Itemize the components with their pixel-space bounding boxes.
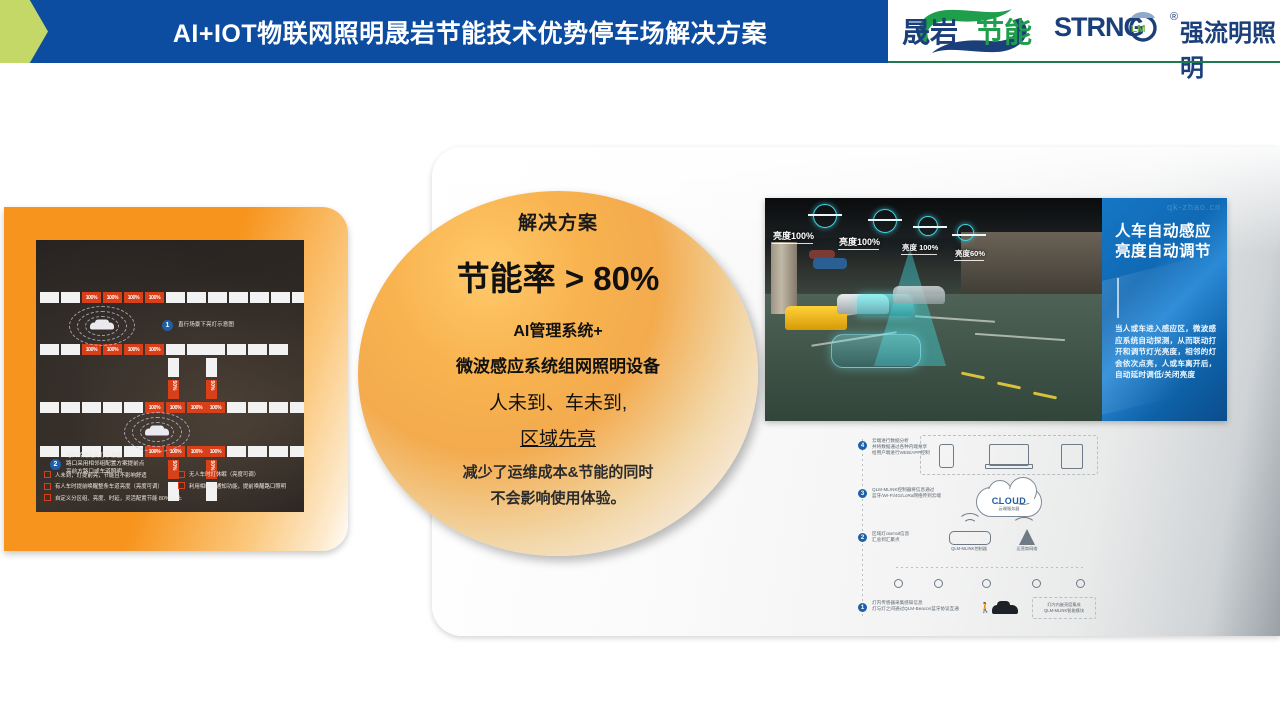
lamp-row-4b: 100% xyxy=(206,446,304,457)
lamp-on: 100% xyxy=(124,292,143,303)
slide-root: AI+IOT物联网照明晟岩节能技术优势停车场解决方案 晟岩 节能 STRNG L… xyxy=(0,0,1280,720)
lamp-value: 50% xyxy=(168,380,179,391)
legend-label: 无人车时灯休眠（亮度可调） xyxy=(189,470,259,478)
lamp-off xyxy=(206,344,225,355)
network-architecture-diagram: CLOUD 云端服务器 QLM-MLINK控制器 运营商网络 🚶 灯内内嵌亮度集… xyxy=(826,425,1108,633)
legend-label: 利用相临组通知功能，提前唤醒路口照明 xyxy=(189,482,286,490)
client-devices-group xyxy=(920,435,1098,475)
brightness-label-3: 亮度 100% xyxy=(902,242,938,253)
step-badge-3: 3 xyxy=(858,489,867,498)
ellipse-line-3: 人未到、车未到, xyxy=(489,388,627,415)
legend-item: 无人车时灯休眠（亮度可调） xyxy=(178,470,286,478)
step-3-line2: 蓝牙/WI-FI/4G/LoRa网络传到云端 xyxy=(872,493,941,499)
step-4-line3: 给用户端进行WEB/APP控制 xyxy=(872,450,930,456)
lamp-off xyxy=(292,292,304,303)
lamp-off xyxy=(40,446,59,457)
lamp-off xyxy=(248,402,267,413)
blue-panel-title: 人车自动感应 亮度自动调节 xyxy=(1115,222,1211,262)
lamp-off xyxy=(290,402,304,413)
legend-item: 利用相临组通知功能，提前唤醒路口照明 xyxy=(178,482,286,490)
laptop-base-icon xyxy=(985,464,1033,469)
lamp-off xyxy=(227,402,246,413)
brightness-label-4: 亮度60% xyxy=(955,248,985,259)
lamp-row-1: 100% 100% 100% 100% xyxy=(40,292,304,303)
blue-panel-title-line2: 亮度自动调节 xyxy=(1115,242,1211,262)
car-icon-small xyxy=(992,605,1018,614)
watermark: qk-zhao.cn xyxy=(1167,202,1221,212)
annotation-badge-1: 1 xyxy=(162,320,173,331)
garage-back-wall xyxy=(961,232,1102,298)
lamp-on: 100% xyxy=(145,292,164,303)
lamp-bus-line xyxy=(896,567,1086,568)
lamp-off xyxy=(227,446,246,457)
lamp-node xyxy=(890,577,904,590)
lamp-off xyxy=(166,292,185,303)
phone-icon xyxy=(939,444,954,468)
lamp-on: 100% xyxy=(103,292,122,303)
lamp-off xyxy=(227,344,246,355)
slide-header: AI+IOT物联网照明晟岩节能技术优势停车场解决方案 晟岩 节能 STRNG L… xyxy=(0,0,1280,63)
lamp-node xyxy=(1072,577,1086,590)
lamp-module-tag-line2: QLM-MLINK智能模块 xyxy=(1044,608,1084,614)
lamp-off xyxy=(103,402,122,413)
page-title: AI+IOT物联网照明晟岩节能技术优势停车场解决方案 xyxy=(60,0,880,63)
ellipse-line-2: 微波感应系统组网照明设备 xyxy=(456,352,660,377)
lamp-off xyxy=(40,402,59,413)
lamp-off xyxy=(290,446,304,457)
lamp-off xyxy=(166,344,185,355)
car-far-2 xyxy=(813,258,847,269)
lamp-node xyxy=(978,577,992,590)
lamp-off xyxy=(248,446,267,457)
lamp-row-2b xyxy=(206,344,288,355)
cloud-node: CLOUD 云端服务器 xyxy=(976,487,1042,517)
legend-marker-icon xyxy=(44,483,51,490)
legend-label: 人未到，灯提前亮，节能且不影响舒适 xyxy=(55,471,147,479)
lamp-module-tag: 灯内内嵌亮度集成 QLM-MLINK智能模块 xyxy=(1032,597,1096,619)
ellipse-line-5: 减少了运维成本&节能的同时 xyxy=(463,461,654,482)
lamp-off xyxy=(229,292,248,303)
lamp-off xyxy=(208,292,227,303)
lamp-off-vertical xyxy=(168,358,179,377)
lamp-row-3b: 100% xyxy=(206,402,304,413)
lamp-on-vertical: 50% xyxy=(206,380,217,399)
lamp-off-vertical xyxy=(206,358,217,377)
car-grey xyxy=(893,286,945,304)
lamp-off xyxy=(250,292,269,303)
ceiling-lamp-icon-1 xyxy=(813,204,837,228)
lamp-on: 100% xyxy=(82,292,101,303)
legend-label: 自定义分区组、亮度、时延，灵活配置节能 80% 以上 xyxy=(55,494,182,502)
ceiling-lamp-icon-4 xyxy=(957,224,974,241)
lamp-node xyxy=(1028,577,1042,590)
blue-info-panel: qk-zhao.cn 人车自动感应 亮度自动调节 当人或车进入感应区，微波感应系… xyxy=(1102,198,1227,421)
lamp-off xyxy=(82,402,101,413)
ellipse-headline: 节能率 > 80% xyxy=(457,252,660,300)
legend-right-column: 无人车时灯休眠（亮度可调） 利用相临组通知功能，提前唤醒路口照明 xyxy=(178,470,286,493)
router-label: QLM-MLINK控制器 xyxy=(934,546,1004,552)
garage-photo: 亮度100% 亮度100% 亮度 100% 亮度60% xyxy=(765,198,1102,421)
annotation-text-2-line1: 路口转角处亮灯示意图 xyxy=(66,452,122,460)
ceiling-lamp-icon-3 xyxy=(918,216,938,236)
annotation-badge-2: 2 xyxy=(50,459,61,470)
legend-marker-icon xyxy=(178,471,185,478)
annotation-text-1: 直行场景下亮灯示意图 xyxy=(178,321,234,329)
header-underline xyxy=(888,61,1280,63)
legend-marker-icon xyxy=(44,494,51,501)
ceiling-lamp-icon-2 xyxy=(873,209,897,233)
legend-label: 有人车时提前唤醒整条车道亮度（亮度可调） xyxy=(55,482,163,490)
lamp-off xyxy=(61,292,80,303)
car-wireframe xyxy=(831,334,921,368)
blue-panel-title-line1: 人车自动感应 xyxy=(1115,222,1211,242)
step-badge-4: 4 xyxy=(858,441,867,450)
lamp-off xyxy=(61,402,80,413)
wifi-arc-icon xyxy=(963,519,977,531)
logo-text-lm: LM xyxy=(1131,24,1145,35)
car-sensor-ring-1 xyxy=(69,306,135,346)
diagram-timeline xyxy=(862,439,863,619)
lamp-off xyxy=(187,292,206,303)
legend-left-column: 人未到，灯提前亮，节能且不影响舒适 有人车时提前唤醒整条车道亮度（亮度可调） 自… xyxy=(44,471,182,506)
logo-text-jieneng: 节能 xyxy=(976,11,1032,51)
router-icon xyxy=(949,531,991,545)
lamp-on: 100% xyxy=(206,446,225,457)
ellipse-kicker: 解决方案 xyxy=(518,208,598,235)
lamp-node xyxy=(930,577,944,590)
ellipse-line-1: AI管理系统+ xyxy=(513,317,602,341)
car-icon xyxy=(145,429,169,436)
annotation-text-2-line2: 路口采用相邻组配置方案提前点 xyxy=(66,460,144,468)
tower-label: 运营商网络 xyxy=(996,546,1058,552)
step-badge-2: 2 xyxy=(858,533,867,542)
blue-panel-body: 当人或车进入感应区，微波感应系统自动探测，从而联动打开和调节灯光亮度，相邻的灯会… xyxy=(1115,323,1219,381)
car-sensor-ring-2 xyxy=(124,412,190,452)
cloud-label: CLOUD xyxy=(976,496,1042,506)
blue-panel-rule xyxy=(1117,278,1119,318)
lamp-off xyxy=(248,344,267,355)
tower-signal-icon xyxy=(1012,517,1036,535)
lamp-off xyxy=(40,292,59,303)
legend-marker-icon xyxy=(44,471,51,478)
logo-text-qiangliuming: 强流明照明 xyxy=(1180,13,1280,83)
step-2-line2: 汇总到汇聚点 xyxy=(872,537,900,543)
left-orange-panel: 100% 100% 100% 100% 100% 100% 100% 100% xyxy=(4,207,348,551)
lamp-on-vertical: 50% xyxy=(168,380,179,399)
lamp-on: 100% xyxy=(145,344,164,355)
tablet-icon xyxy=(1061,444,1083,469)
brand-logo: 晟岩 节能 STRNG LM ® 强流明照明 xyxy=(888,0,1280,63)
step-badge-1: 1 xyxy=(858,603,867,612)
legend-marker-icon xyxy=(178,482,185,489)
step-1-line2: 灯与灯之间通过QLM-Beacon蓝牙协议互通 xyxy=(872,606,959,612)
lamp-off xyxy=(269,446,288,457)
ellipse-line-4: 区域先亮 xyxy=(520,424,596,451)
garage-illustration: 亮度100% 亮度100% 亮度 100% 亮度60% qk-zhao.cn 人… xyxy=(765,198,1227,421)
lamp-on: 100% xyxy=(206,402,225,413)
laptop-icon xyxy=(989,444,1029,466)
car-icon xyxy=(90,323,114,330)
brightness-label-2: 亮度100% xyxy=(839,235,880,248)
lamp-off xyxy=(271,292,290,303)
registered-icon: ® xyxy=(1170,11,1178,23)
lamp-off xyxy=(269,402,288,413)
lamp-off xyxy=(269,344,288,355)
solution-ellipse: 解决方案 节能率 > 80% AI管理系统+ 微波感应系统组网照明设备 人未到、… xyxy=(358,191,758,556)
brightness-label-1: 亮度100% xyxy=(773,229,814,242)
ellipse-line-6: 不会影响使用体验。 xyxy=(490,487,625,508)
legend-item: 有人车时提前唤醒整条车道亮度（亮度可调） xyxy=(44,482,182,490)
lamp-value: 50% xyxy=(206,380,217,391)
garage-pillar xyxy=(771,242,797,314)
lamp-off xyxy=(187,344,206,355)
legend-item: 人未到，灯提前亮，节能且不影响舒适 xyxy=(44,471,182,479)
pedestrian-icon: 🚶 xyxy=(979,603,991,614)
cloud-sublabel: 云端服务器 xyxy=(976,506,1042,512)
parking-lighting-diagram: 100% 100% 100% 100% 100% 100% 100% 100% xyxy=(36,240,304,512)
logo-text-shengyan: 晟岩 xyxy=(902,11,958,51)
lamp-off xyxy=(40,344,59,355)
legend-item: 自定义分区组、亮度、时延，灵活配置节能 80% 以上 xyxy=(44,494,182,502)
